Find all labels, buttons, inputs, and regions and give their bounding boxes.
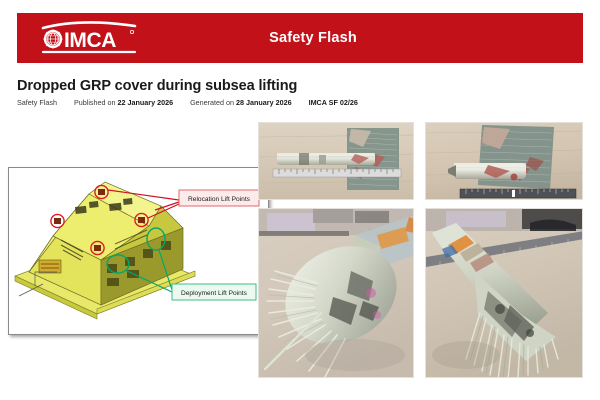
- photo-grp-rod-full-length-fracture[interactable]: [425, 208, 583, 378]
- meta-category: Safety Flash: [17, 98, 57, 107]
- relocation-lift-points-label: Relocation Lift Points: [179, 190, 259, 206]
- header-title: Safety Flash: [17, 13, 583, 63]
- grp-cover-diagram-panel[interactable]: Relocation Lift Points Deployment Lift P…: [8, 167, 269, 335]
- deployment-lift-points-label-text: Deployment Lift Points: [181, 290, 248, 297]
- photo-content: [259, 123, 414, 200]
- deployment-lift-points-label: Deployment Lift Points: [172, 284, 256, 300]
- meta-reference: IMCA SF 02/26: [309, 98, 358, 107]
- photo-content: [426, 123, 583, 200]
- meta-published-label: Published on: [74, 98, 116, 107]
- page-title: Dropped GRP cover during subsea lifting: [17, 78, 297, 94]
- document-meta: Safety Flash Published on 22 January 202…: [17, 98, 358, 107]
- photo-content: [426, 209, 583, 378]
- meta-generated-label: Generated on: [190, 98, 234, 107]
- meta-published-date: 22 January 2026: [118, 98, 174, 107]
- meta-generated-date: 28 January 2026: [236, 98, 292, 107]
- header-bar: IMCA Safety Flash: [17, 13, 583, 63]
- photo-grp-rod-fractured-end-closeup[interactable]: [258, 208, 414, 378]
- photo-broken-grp-rod-with-ruler-angle[interactable]: [425, 122, 583, 200]
- relocation-lift-points-label-text: Relocation Lift Points: [188, 196, 251, 203]
- grp-cover-lift-points-diagram: Relocation Lift Points Deployment Lift P…: [9, 168, 266, 332]
- safety-flash-page: IMCA Safety Flash Dropped GRP cover duri…: [0, 0, 600, 400]
- photo-content: [259, 209, 414, 378]
- meta-published: Published on 22 January 2026: [74, 98, 173, 107]
- photo-broken-grp-rod-with-ruler-top[interactable]: [258, 122, 414, 200]
- meta-generated: Generated on 28 January 2026: [190, 98, 292, 107]
